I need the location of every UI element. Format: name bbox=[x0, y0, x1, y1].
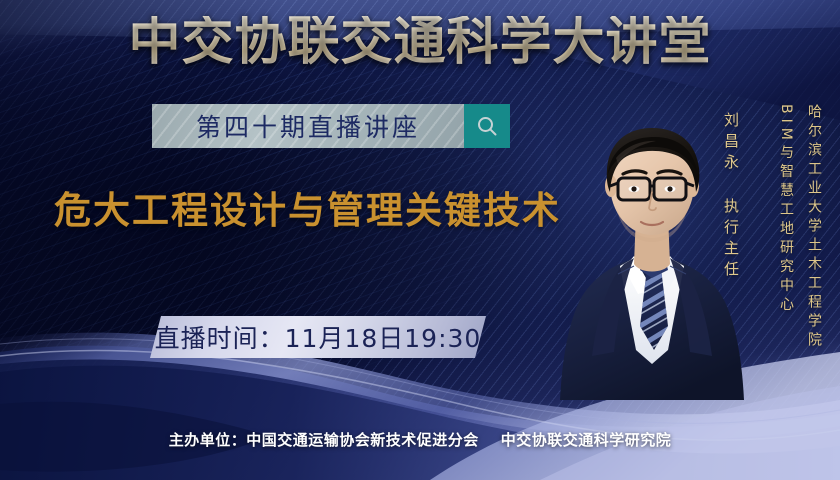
search-button[interactable] bbox=[464, 104, 510, 148]
episode-label-panel: 第四十期直播讲座 bbox=[152, 104, 464, 148]
speaker-affiliation-secondary: BIM与智慧工地研究中心 bbox=[776, 104, 796, 316]
promo-poster: 中交协联交通科学大讲堂 第四十期直播讲座 危大工程设计与管理关键技术 直播时间：… bbox=[0, 0, 840, 480]
lecture-headline: 危大工程设计与管理关键技术 bbox=[54, 190, 561, 233]
page-title: 中交协联交通科学大讲堂 bbox=[0, 16, 840, 68]
search-icon bbox=[475, 114, 499, 138]
episode-label: 第四十期直播讲座 bbox=[196, 108, 420, 144]
footer-prefix: 主办单位： bbox=[169, 431, 247, 449]
speaker-affiliation-primary: 哈尔滨工业大学土木工程学院 bbox=[804, 104, 824, 351]
speaker-role: 执行主任 bbox=[721, 198, 742, 282]
footer-organizers: 主办单位：中国交通运输协会新技术促进分会中交协联交通科学研究院 bbox=[0, 429, 840, 450]
schedule-banner: 直播时间：11月18日19:30 bbox=[150, 316, 486, 358]
footer-organizer-2: 中交协联交通科学研究院 bbox=[501, 431, 672, 449]
episode-banner: 第四十期直播讲座 bbox=[152, 104, 510, 148]
schedule-text: 直播时间：11月18日19:30 bbox=[155, 319, 482, 355]
speaker-name: 刘昌永 bbox=[721, 112, 742, 175]
footer-organizer-1: 中国交通运输协会新技术促进分会 bbox=[246, 431, 479, 449]
speaker-portrait bbox=[556, 88, 748, 400]
